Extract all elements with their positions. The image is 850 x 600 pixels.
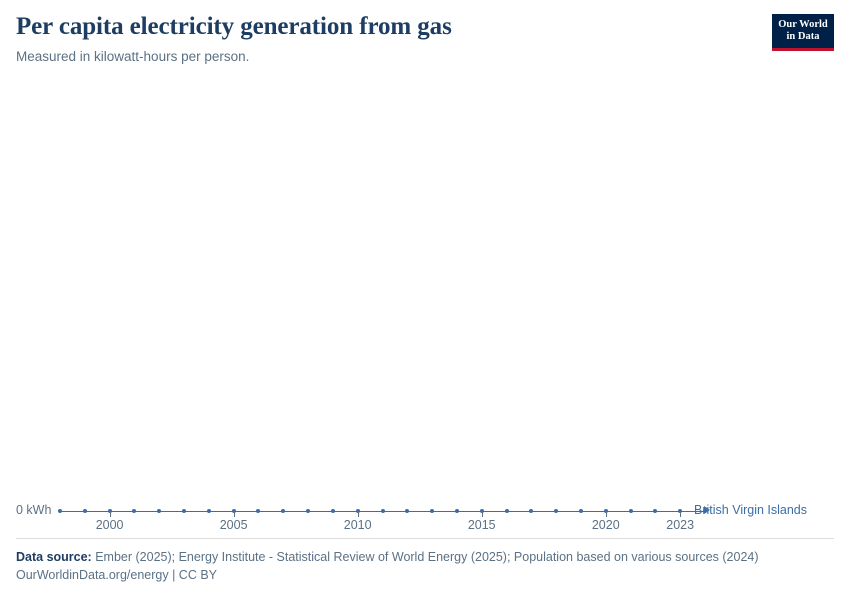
data-point[interactable] <box>579 509 583 513</box>
chart-subtitle: Measured in kilowatt-hours per person. <box>16 48 834 66</box>
x-axis-tick <box>110 512 111 517</box>
data-source-text: Ember (2025); Energy Institute - Statist… <box>95 550 758 564</box>
data-point[interactable] <box>132 509 136 513</box>
chart-plot-area: 0 kWh British Virgin Islands 20002005201… <box>16 90 834 520</box>
x-axis-tick-label: 2010 <box>344 518 372 532</box>
owid-logo-line2: in Data <box>772 31 834 43</box>
page-title: Per capita electricity generation from g… <box>16 12 834 42</box>
x-axis-tick <box>606 512 607 517</box>
x-axis-tick <box>234 512 235 517</box>
data-point[interactable] <box>58 509 62 513</box>
owid-logo[interactable]: Our World in Data <box>772 14 834 51</box>
x-axis-tick <box>358 512 359 517</box>
data-point[interactable] <box>405 509 409 513</box>
chart-footer: Data source: Ember (2025); Energy Instit… <box>16 538 834 584</box>
data-source-label: Data source: <box>16 550 92 564</box>
x-axis-tick-label: 2000 <box>96 518 124 532</box>
data-point[interactable] <box>306 509 310 513</box>
data-point[interactable] <box>83 509 87 513</box>
footer-link-line: OurWorldinData.org/energy | CC BY <box>16 566 834 584</box>
data-point[interactable] <box>157 509 161 513</box>
x-axis-tick-label: 2020 <box>592 518 620 532</box>
data-point[interactable] <box>207 509 211 513</box>
data-point[interactable] <box>331 509 335 513</box>
data-point[interactable] <box>554 509 558 513</box>
data-point[interactable] <box>529 509 533 513</box>
x-axis-tick <box>482 512 483 517</box>
x-axis-tick-label: 2005 <box>220 518 248 532</box>
data-source-line: Data source: Ember (2025); Energy Instit… <box>16 548 834 566</box>
x-axis-tick-label: 2015 <box>468 518 496 532</box>
data-point[interactable] <box>653 509 657 513</box>
series-label-british-virgin-islands[interactable]: British Virgin Islands <box>694 503 807 517</box>
data-point[interactable] <box>182 509 186 513</box>
data-point[interactable] <box>629 509 633 513</box>
chart-page: Per capita electricity generation from g… <box>0 0 850 600</box>
y-axis-zero-label: 0 kWh <box>16 503 51 517</box>
data-point[interactable] <box>505 509 509 513</box>
data-point[interactable] <box>430 509 434 513</box>
x-axis-tick <box>680 512 681 517</box>
data-point[interactable] <box>703 509 707 513</box>
owid-energy-link[interactable]: OurWorldinData.org/energy | CC BY <box>16 568 217 582</box>
data-point[interactable] <box>281 509 285 513</box>
chart-header: Per capita electricity generation from g… <box>16 12 834 66</box>
x-axis-tick-label: 2023 <box>666 518 694 532</box>
data-point[interactable] <box>455 509 459 513</box>
data-point[interactable] <box>256 509 260 513</box>
data-point[interactable] <box>381 509 385 513</box>
owid-logo-line1: Our World <box>772 19 834 31</box>
